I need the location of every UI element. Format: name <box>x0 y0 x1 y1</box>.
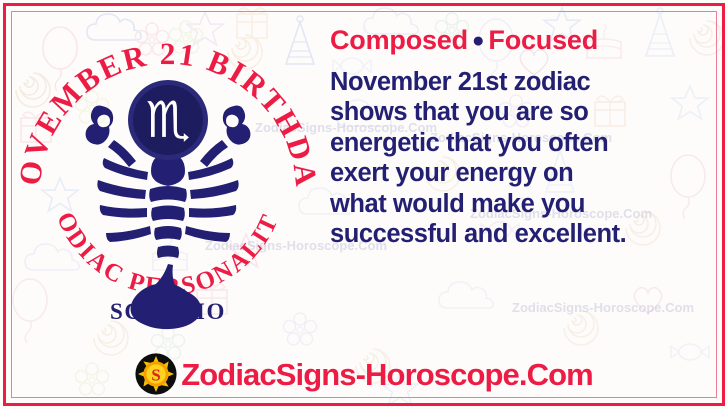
description-line: November 21st zodiac <box>330 67 716 97</box>
trait-focused: Focused <box>488 25 598 55</box>
description-paragraph: November 21st zodiac shows that you are … <box>330 67 716 250</box>
description-line: energetic that you often <box>330 128 716 158</box>
text-content: Composed●Focused November 21st zodiac sh… <box>330 26 716 250</box>
zodiac-glyph-disc: ♏ <box>128 80 208 160</box>
zodiac-badge: NOVEMBER 21 BIRTHDAY ZODIAC PERSONALITY <box>18 36 318 336</box>
badge-sign-name: SCORPIO <box>110 299 226 324</box>
description-line: what would make you <box>330 189 716 219</box>
site-branding[interactable]: S ZodiacSigns-Horoscope.Com <box>0 351 728 397</box>
description-line: successful and excellent. <box>330 219 716 249</box>
traits-headline: Composed●Focused <box>330 26 716 56</box>
description-line: exert your energy on <box>330 158 716 188</box>
logo-letter: S <box>152 366 161 385</box>
description-line: shows that you are so <box>330 97 716 127</box>
site-name-text[interactable]: ZodiacSigns-Horoscope.Com <box>181 359 593 390</box>
scorpio-glyph-icon: ♏ <box>146 91 191 149</box>
sun-logo-icon[interactable]: S <box>135 353 177 395</box>
trait-composed: Composed <box>330 25 468 55</box>
bullet-separator-icon: ● <box>468 29 488 52</box>
birthday-zodiac-card: ZodiacSigns-Horoscope.Com ZodiacSigns-Ho… <box>0 0 728 409</box>
